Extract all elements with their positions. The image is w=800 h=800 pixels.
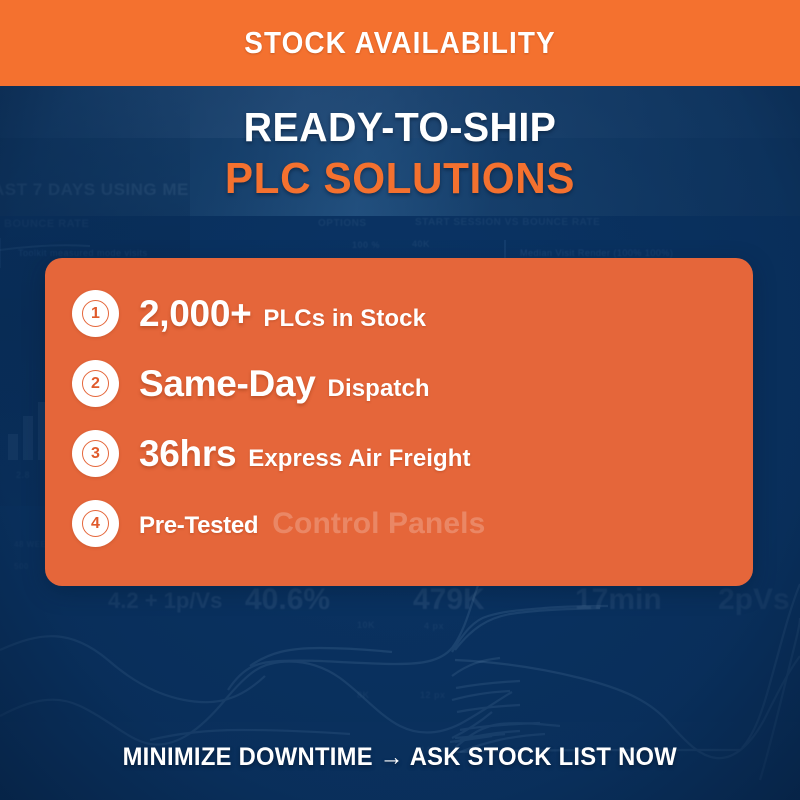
banner-label: STOCK AVAILABILITY xyxy=(244,25,555,61)
bullet-circle-3: 3 xyxy=(72,430,119,477)
bullet-number: 2 xyxy=(82,370,109,397)
feature-description: Dispatch xyxy=(328,375,430,403)
bullet-number: 4 xyxy=(82,510,109,537)
bullet-circle-2: 2 xyxy=(72,360,119,407)
headline-line-1: READY-TO-SHIP xyxy=(16,104,784,150)
feature-row-1: 12,000+PLCs in Stock xyxy=(45,286,753,341)
feature-description: Control Panels xyxy=(272,507,485,541)
bullet-circle-1: 1 xyxy=(72,290,119,337)
stock-availability-banner: STOCK AVAILABILITY xyxy=(0,0,800,86)
feature-highlight: Same-Day xyxy=(139,363,316,405)
features-card: 12,000+PLCs in Stock2Same-DayDispatch336… xyxy=(45,258,753,586)
feature-highlight: 2,000+ xyxy=(139,293,251,335)
bullet-circle-4: 4 xyxy=(72,500,119,547)
feature-text: 2,000+PLCs in Stock xyxy=(139,293,426,335)
promo-poster: AST 7 DAYS USING MEBOUNCE RATEOPTIONSSTA… xyxy=(0,0,800,800)
feature-description: PLCs in Stock xyxy=(263,305,426,333)
feature-row-3: 336hrsExpress Air Freight xyxy=(45,426,753,481)
feature-row-2: 2Same-DayDispatch xyxy=(45,356,753,411)
headline-block: READY-TO-SHIP PLC SOLUTIONS xyxy=(0,104,800,204)
feature-description: Express Air Freight xyxy=(248,445,470,473)
feature-row-4: 4Pre-TestedControl Panels xyxy=(45,496,753,551)
cta-label[interactable]: MINIMIZE DOWNTIME → ASK STOCK LIST NOW xyxy=(123,743,677,772)
feature-highlight: 36hrs xyxy=(139,433,236,475)
feature-text: Pre-TestedControl Panels xyxy=(139,507,485,541)
bullet-number: 3 xyxy=(82,440,109,467)
feature-text: 36hrsExpress Air Freight xyxy=(139,433,471,475)
headline-line-2: PLC SOLUTIONS xyxy=(16,154,784,204)
feature-text: Same-DayDispatch xyxy=(139,363,430,405)
feature-highlight: Pre-Tested xyxy=(139,512,258,540)
cta-block[interactable]: MINIMIZE DOWNTIME → ASK STOCK LIST NOW xyxy=(0,743,800,772)
feature-list: 12,000+PLCs in Stock2Same-DayDispatch336… xyxy=(45,286,753,551)
bullet-number: 1 xyxy=(82,300,109,327)
